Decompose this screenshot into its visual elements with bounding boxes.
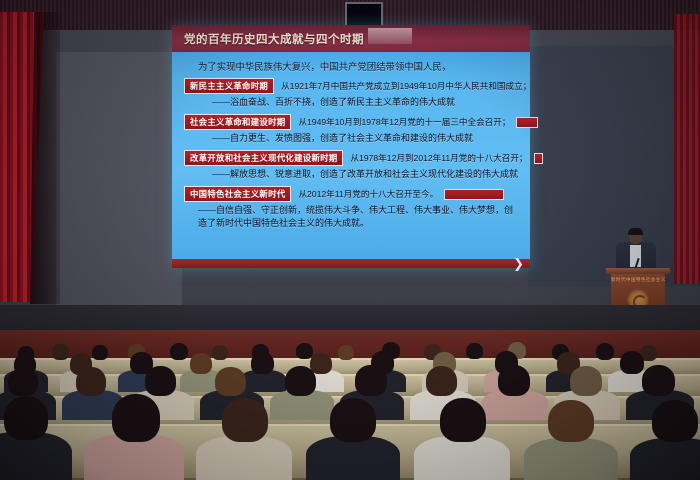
audience-head [212, 345, 228, 360]
slide-title: 党的百年历史四大成就与四个时期 [172, 31, 364, 47]
period-row-4: 中国特色社会主义新时代 从2012年11月党的十八大召开至今。 [184, 186, 521, 202]
period-tag-1: 新民主主义革命时期 [184, 78, 274, 94]
period-tag-4: 中国特色社会主义新时代 [184, 186, 291, 202]
slide-lead-line: 为了实现中华民族伟大复兴，中国共产党团结带领中国人民， [198, 60, 521, 74]
projector-glare [368, 28, 412, 44]
audience-head [330, 398, 376, 442]
audience-head [440, 398, 486, 442]
audience-head [190, 353, 212, 374]
audience-shoulders [414, 436, 510, 480]
period-tag-stub-2 [516, 117, 538, 128]
audience-shoulders [630, 438, 700, 480]
audience-shoulders [196, 436, 292, 480]
period-tag-3: 改革开放和社会主义现代化建设新时期 [184, 150, 343, 166]
audience-area [0, 336, 700, 480]
audience-shoulders [524, 438, 618, 480]
period-range-3: 从1978年12月到2012年11月党的十八大召开； [350, 153, 527, 164]
period-range-1: 从1921年7月中国共产党成立到1949年10月中华人民共和国成立； [281, 81, 531, 92]
audience-head [222, 398, 268, 442]
audience-head [8, 368, 38, 396]
audience-shoulders [306, 436, 400, 480]
audience-head [570, 366, 602, 396]
audience-head [642, 365, 675, 396]
podium-inscription: 新时代中国特色社会主义 [611, 277, 665, 283]
period-achievement-4: ——自信自强、守正创新，统揽伟大斗争、伟大工程、伟大事业、伟大梦想，创造了新时代… [198, 204, 521, 229]
audience-head [355, 365, 387, 396]
audience-head [145, 366, 176, 396]
audience-head [652, 400, 698, 442]
audience-head [251, 352, 274, 374]
wall-panel-left [56, 52, 182, 324]
audience-head [310, 353, 332, 374]
stage-curtain-left-shadow [30, 12, 60, 304]
audience-head [466, 343, 483, 359]
audience-head [285, 366, 316, 396]
audience-head [296, 343, 313, 359]
period-tag-2: 社会主义革命和建设时期 [184, 114, 291, 130]
audience-head [170, 343, 188, 360]
period-achievement-3: ——解放思想、锐意进取，创造了改革开放和社会主义现代化建设的伟大成就 [212, 168, 521, 181]
period-range-4: 从2012年11月党的十八大召开至今。 [298, 189, 438, 200]
period-tag-stub-4 [444, 189, 504, 200]
period-range-2: 从1949年10月到1978年12月党的十一届三中全会召开； [298, 117, 510, 128]
slide-bottom-band: ❯ [172, 259, 530, 268]
period-row-2: 社会主义革命和建设时期 从1949年10月到1978年12月党的十一届三中全会召… [184, 114, 521, 130]
period-row-1: 新民主主义革命时期 从1921年7月中国共产党成立到1949年10月中华人民共和… [184, 78, 521, 94]
period-achievement-1: ——浴血奋战、百折不挠，创造了新民主主义革命的伟大成就 [212, 96, 521, 109]
slide-body: 为了实现中华民族伟大复兴，中国共产党团结带领中国人民， 新民主主义革命时期 从1… [172, 52, 530, 260]
audience-head [548, 400, 594, 442]
audience-head [76, 367, 106, 396]
audience-head [498, 365, 530, 396]
auditorium-photo: 党的百年历史四大成就与四个时期 为了实现中华民族伟大复兴，中国共产党团结带领中国… [0, 0, 700, 480]
audience-head [92, 345, 108, 360]
audience-head [4, 396, 48, 440]
audience-head [620, 351, 644, 374]
period-tag-stub-3 [534, 153, 543, 164]
audience-head [426, 366, 457, 396]
speaker-hair [628, 228, 643, 235]
audience-head [338, 345, 354, 360]
period-achievement-2: ——自力更生、发愤图强，创造了社会主义革命和建设的伟大成就 [212, 132, 521, 145]
audience-head [215, 367, 246, 396]
audience-head [596, 343, 614, 360]
next-slide-chevron-icon[interactable]: ❯ [513, 258, 524, 269]
slide-title-banner: 党的百年历史四大成就与四个时期 [172, 25, 530, 52]
projection-slide: 党的百年历史四大成就与四个时期 为了实现中华民族伟大复兴，中国共产党团结带领中国… [172, 25, 530, 268]
audience-head [112, 394, 160, 442]
audience-head [52, 344, 69, 360]
period-row-3: 改革开放和社会主义现代化建设新时期 从1978年12月到2012年11月党的十八… [184, 150, 521, 166]
